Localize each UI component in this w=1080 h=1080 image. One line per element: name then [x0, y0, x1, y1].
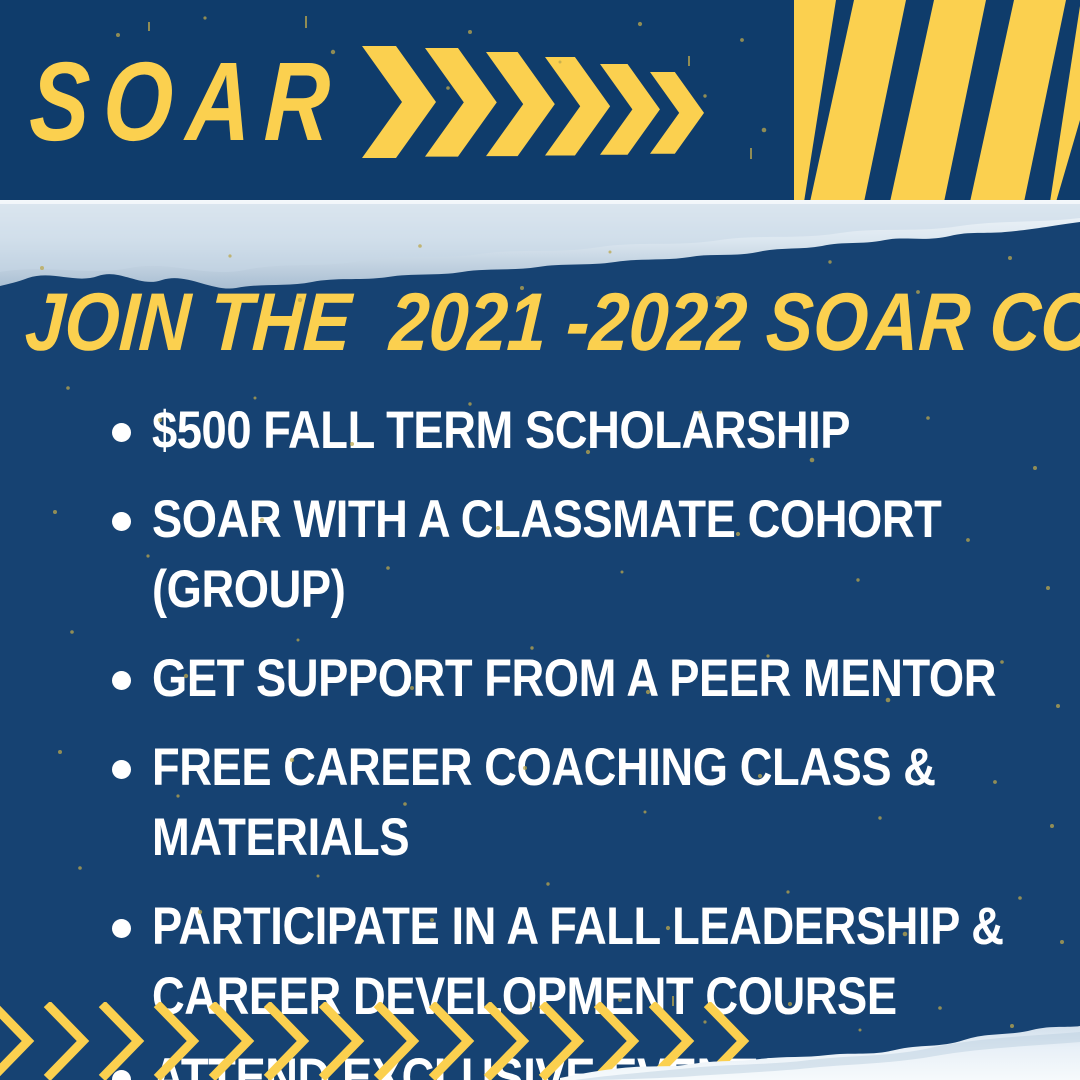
page-title: JOIN THE 2021 -2022 SOAR COHORT!	[23, 282, 1080, 364]
list-item: FREE CAREER COACHING CLASS & MATERIALS	[104, 733, 1064, 873]
list-item: GET SUPPORT FROM A PEER MENTOR	[104, 644, 1064, 714]
chevron-right-icon	[650, 72, 704, 154]
chevron-right-icon	[545, 57, 610, 156]
bullet-dot-icon	[112, 423, 131, 442]
list-item-label: SOAR WITH A CLASSMATE COHORT (GROUP)	[152, 485, 1064, 625]
poster-canvas: SOAR	[0, 0, 1080, 1080]
header-band: SOAR	[0, 0, 1080, 202]
bullet-dot-icon	[112, 671, 131, 690]
chevron-right-icon	[362, 46, 436, 158]
bullet-dot-icon	[112, 512, 131, 531]
diagonal-stripe-block	[794, 0, 1080, 202]
list-item: SOAR WITH A CLASSMATE COHORT (GROUP)	[104, 485, 1064, 625]
soar-logo-text: SOAR	[28, 46, 346, 158]
list-item: $500 FALL TERM SCHOLARSHIP	[104, 396, 1064, 466]
chevron-right-icon	[600, 64, 660, 155]
torn-paper-divider-bottom	[0, 1012, 1080, 1080]
list-item-label: FREE CAREER COACHING CLASS & MATERIALS	[152, 733, 1064, 873]
main-content: JOIN THE 2021 -2022 SOAR COHORT! $500 FA…	[0, 200, 1080, 1080]
header-chevron-group	[362, 46, 782, 158]
bullet-dot-icon	[112, 760, 131, 779]
bullet-dot-icon	[112, 919, 131, 938]
list-item-label: $500 FALL TERM SCHOLARSHIP	[152, 396, 1064, 466]
list-item-label: GET SUPPORT FROM A PEER MENTOR	[152, 644, 1064, 714]
benefits-list: $500 FALL TERM SCHOLARSHIP SOAR WITH A C…	[104, 396, 1064, 1080]
chevron-right-icon	[486, 52, 555, 156]
